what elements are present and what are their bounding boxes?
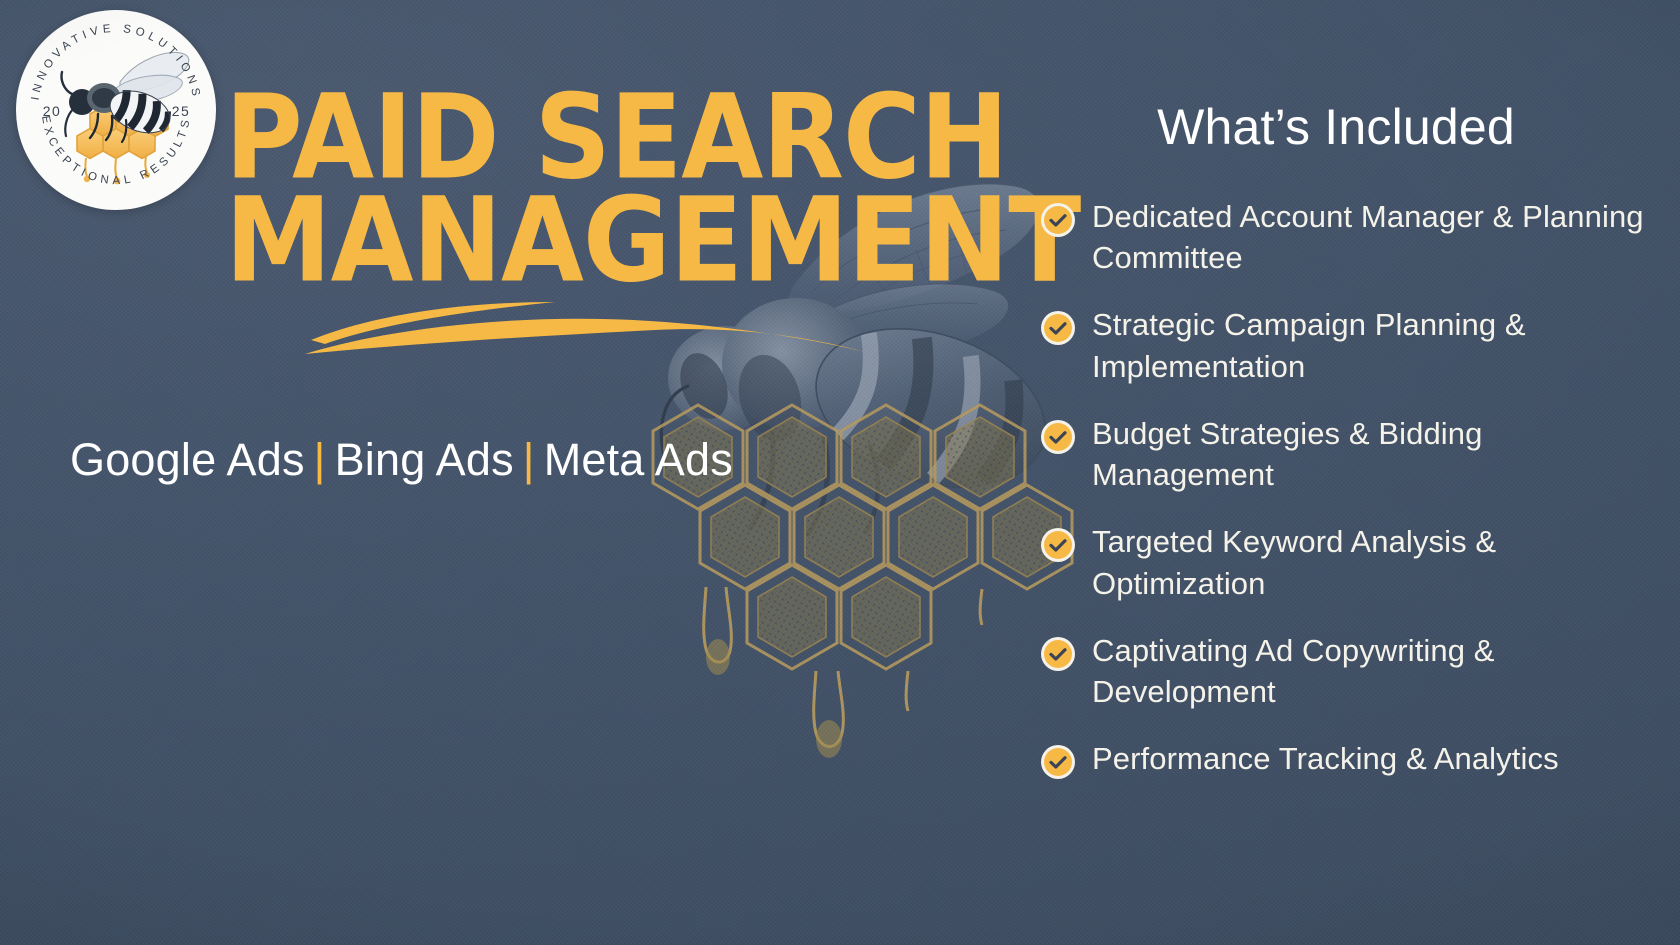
feature-text: Dedicated Account Manager & Planning Com… [1092, 196, 1672, 278]
platform-bing-ads: Bing Ads [335, 434, 514, 485]
platform-meta-ads: Meta Ads [544, 434, 733, 485]
check-circle-icon [1040, 744, 1076, 780]
whats-included-title: What’s Included [1040, 98, 1680, 156]
feature-item: Captivating Ad Copywriting & Development [1040, 630, 1680, 712]
feature-text: Targeted Keyword Analysis & Optimization [1092, 521, 1672, 603]
logo-year-left: 20 [43, 103, 62, 119]
feature-text: Captivating Ad Copywriting & Development [1092, 630, 1672, 712]
poster-canvas: INNOVATIVE SOLUTIONS EXCEPTIONAL RESULTS… [0, 0, 1680, 945]
check-circle-icon [1040, 202, 1076, 238]
feature-item: Budget Strategies & Bidding Management [1040, 413, 1680, 495]
whats-included-panel: What’s Included Dedicated Account Manage… [1040, 98, 1680, 806]
platform-separator-2: | [514, 434, 544, 485]
logo-svg: INNOVATIVE SOLUTIONS EXCEPTIONAL RESULTS… [16, 10, 216, 210]
headline-block: PAID SEARCH MANAGEMENT [225, 88, 1065, 281]
feature-item: Performance Tracking & Analytics [1040, 738, 1680, 780]
gold-swoosh-flourish [305, 286, 865, 356]
check-circle-icon [1040, 310, 1076, 346]
check-circle-icon [1040, 636, 1076, 672]
feature-item: Targeted Keyword Analysis & Optimization [1040, 521, 1680, 603]
platform-google-ads: Google Ads [70, 434, 305, 485]
feature-text: Budget Strategies & Bidding Management [1092, 413, 1672, 495]
check-circle-icon [1040, 527, 1076, 563]
feature-item: Strategic Campaign Planning & Implementa… [1040, 304, 1680, 386]
check-circle-icon [1040, 419, 1076, 455]
feature-item: Dedicated Account Manager & Planning Com… [1040, 196, 1680, 278]
feature-text: Performance Tracking & Analytics [1092, 738, 1559, 779]
headline-line-2: MANAGEMENT [225, 191, 1090, 291]
honeycomb-illustration [610, 365, 1080, 765]
brand-logo-badge: INNOVATIVE SOLUTIONS EXCEPTIONAL RESULTS… [16, 10, 216, 210]
logo-year-right: 25 [172, 103, 191, 119]
feature-text: Strategic Campaign Planning & Implementa… [1092, 304, 1672, 386]
platforms-line: Google Ads|Bing Ads|Meta Ads [70, 434, 733, 486]
platform-separator-1: | [305, 434, 335, 485]
